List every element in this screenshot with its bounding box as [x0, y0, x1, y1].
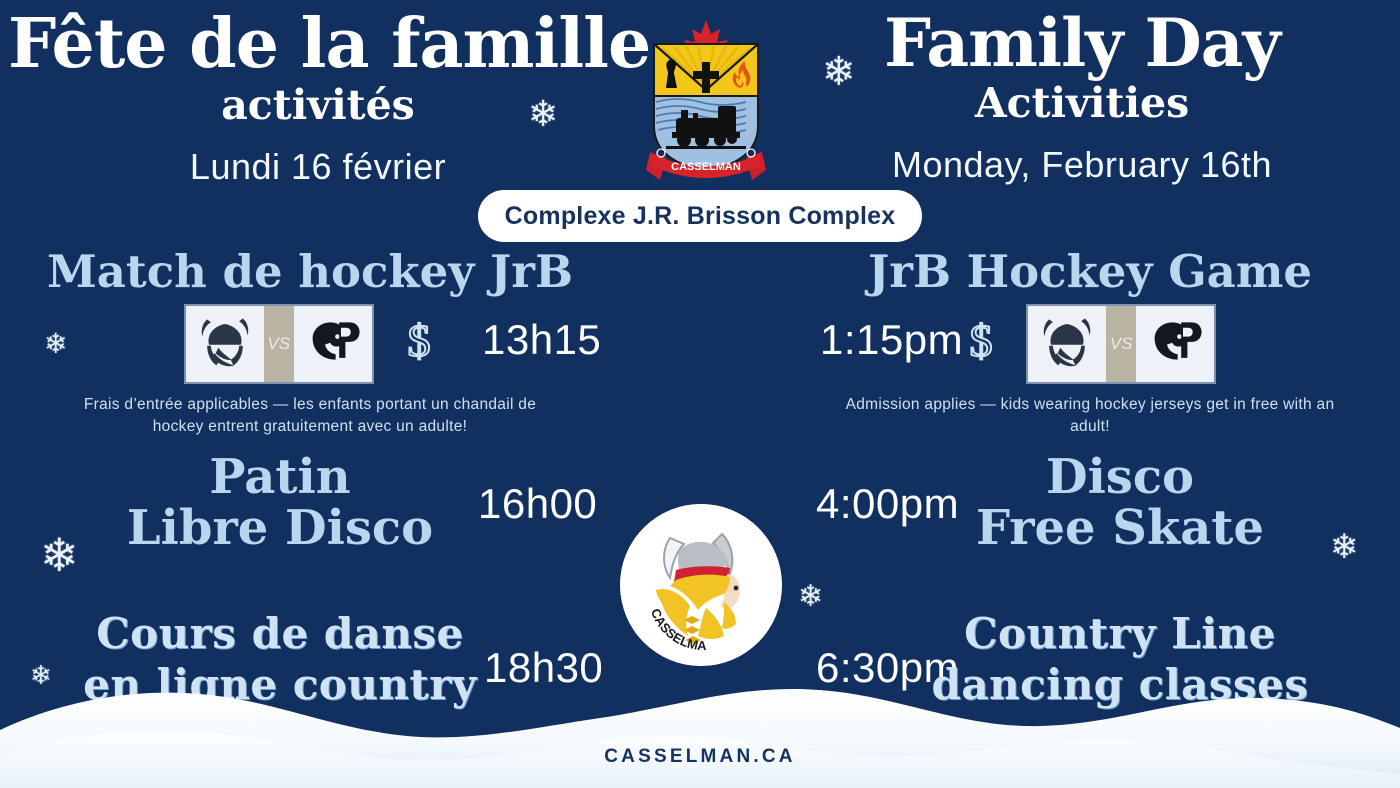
dance-title-en-line1: Country Line: [840, 612, 1400, 657]
hockey-english-block: JrB Hockey Game $: [790, 248, 1390, 439]
svg-text:$: $: [408, 315, 431, 366]
crest-ribbon-label: CASSELMAN: [671, 161, 741, 173]
hockey-title-fr: Match de hockey JrB: [10, 248, 610, 296]
date-en: Monday, February 16th: [772, 144, 1392, 186]
title-en: Family Day: [772, 10, 1392, 77]
activity-row-hockey: Match de hockey JrB: [0, 248, 1400, 438]
website-footer: CASSELMAN.CA: [0, 746, 1400, 768]
date-fr: Lundi 16 février: [8, 146, 628, 188]
skate-title-fr-line2: Libre Disco: [0, 503, 560, 554]
hockey-note-en: Admission applies — kids wearing hockey …: [840, 394, 1340, 439]
snow-drift-graphic: [0, 668, 1400, 788]
skate-title-en-line1: Disco: [840, 452, 1400, 503]
dollar-sign-icon: $: [402, 314, 436, 373]
hockey-title-en: JrB Hockey Game: [790, 248, 1390, 296]
hockey-matchup-graphic: VS: [1026, 304, 1216, 384]
subtitle-en: Activities: [772, 81, 1392, 126]
activity-row-disco-skate: Patin Libre Disco 16h00: [0, 452, 1400, 592]
skate-english-block: Disco Free Skate: [840, 452, 1400, 554]
header-english: Family Day Activities Monday, February 1…: [772, 10, 1392, 186]
venue-label: Complexe J.R. Brisson Complex: [505, 202, 896, 231]
vikings-logo-tile: [186, 306, 264, 382]
website-label: CASSELMAN.CA: [604, 746, 795, 767]
hockey-time-fr: 13h15: [482, 316, 601, 364]
skate-title-fr-line1: Patin: [0, 452, 560, 503]
dollar-sign-icon: $: [964, 314, 998, 373]
subtitle-fr: activités: [8, 83, 628, 128]
skate-title-en-line2: Free Skate: [840, 503, 1400, 554]
vs-separator-label: VS: [264, 306, 294, 382]
dance-title-fr-line1: Cours de danse: [0, 612, 560, 657]
hockey-matchup-graphic: VS: [184, 304, 374, 384]
vs-separator-label: VS: [1106, 306, 1136, 382]
hockey-note-fr: Frais d’entrée applicables — les enfants…: [65, 394, 555, 439]
panthers-logo-tile: [294, 306, 372, 382]
venue-badge: Complexe J.R. Brisson Complex: [478, 190, 922, 242]
casselman-coat-of-arms-icon: CASSELMAN: [636, 14, 776, 182]
header-french: Fête de la famille activités Lundi 16 fé…: [8, 10, 628, 188]
title-fr: Fête de la famille: [8, 10, 628, 79]
svg-text:$: $: [969, 315, 992, 366]
panthers-logo-tile: [1136, 306, 1214, 382]
skate-french-block: Patin Libre Disco: [0, 452, 560, 554]
poster-canvas: ❄ ❄ ❄ ❄ ❄ ❄ ❄ ❄ ❄ Fête de la famille act…: [0, 0, 1400, 788]
vikings-logo-tile: [1028, 306, 1106, 382]
skate-time-fr: 16h00: [478, 480, 597, 528]
